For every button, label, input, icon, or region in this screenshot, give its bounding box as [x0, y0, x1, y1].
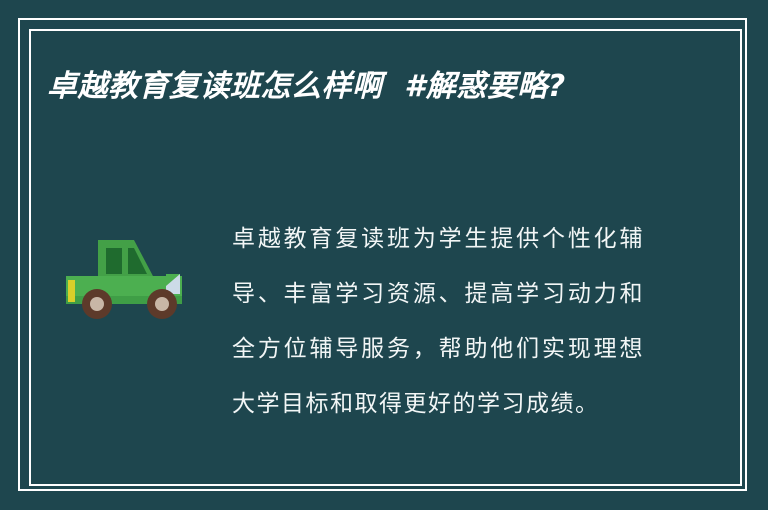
truck-illustration	[62, 232, 202, 324]
body-paragraph: 卓越教育复读班为学生提供个性化辅导、丰富学习资源、提高学习动力和全方位辅导服务，…	[232, 212, 644, 432]
pickup-truck-icon	[62, 232, 202, 324]
body-text-block: 卓越教育复读班为学生提供个性化辅导、丰富学习资源、提高学习动力和全方位辅导服务，…	[232, 212, 644, 432]
page-title: 卓越教育复读班怎么样啊 #解惑要略?	[47, 62, 687, 112]
info-card: 卓越教育复读班怎么样啊 #解惑要略? 卓越教育复读班为学生提供个性化辅导、丰富学…	[0, 0, 768, 510]
